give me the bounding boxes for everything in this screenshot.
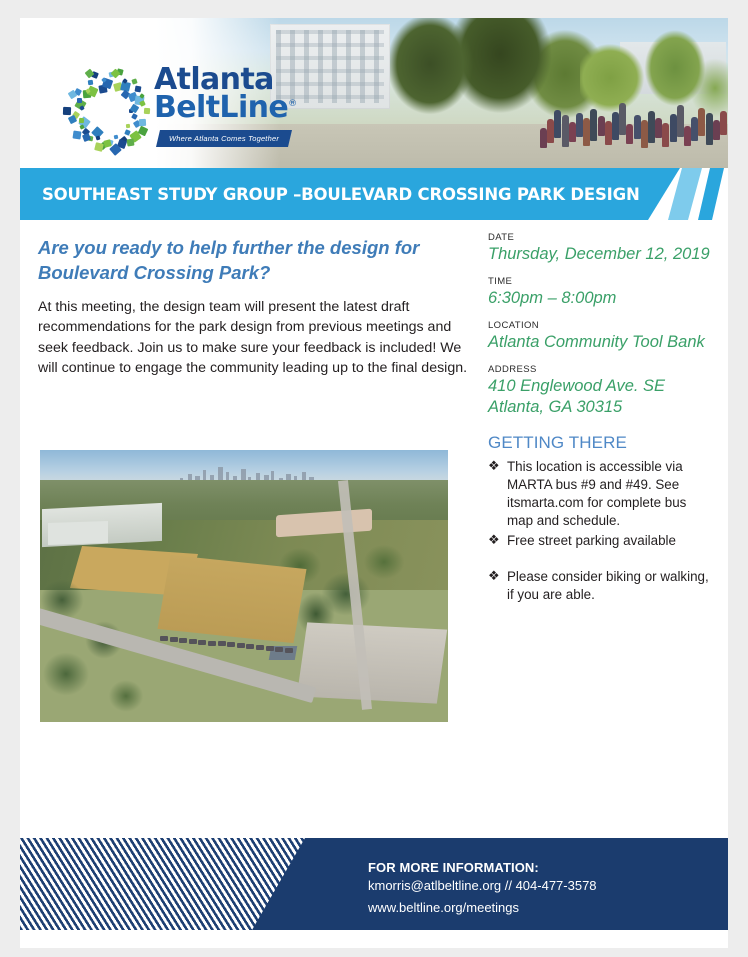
banner-title: SOUTHEAST STUDY GROUP –BOULEVARD CROSSIN…: [42, 168, 640, 220]
footer: FOR MORE INFORMATION: kmorris@atlbeltlin…: [20, 838, 728, 930]
logo-trademark: ®: [288, 99, 296, 109]
detail-label-address: ADDRESS: [488, 364, 710, 375]
diamond-bullet-icon: ❖: [488, 567, 500, 585]
aerial-site-photo: [40, 450, 448, 722]
headline: Are you ready to help further the design…: [38, 236, 468, 285]
detail-value-location: Atlanta Community Tool Bank: [488, 332, 710, 352]
footer-website[interactable]: www.beltline.org/meetings: [368, 900, 708, 915]
footer-contact-block: FOR MORE INFORMATION: kmorris@atlbeltlin…: [368, 860, 708, 915]
header-photo-crowd: [540, 96, 728, 148]
content-area: Are you ready to help further the design…: [20, 220, 728, 832]
logo-word-beltline: BeltLine®: [154, 94, 297, 122]
atlanta-beltline-logo: Atlanta BeltLine® Where Atlanta Comes To…: [68, 64, 293, 159]
footer-contact[interactable]: kmorris@atlbeltline.org // 404-477-3578: [368, 878, 708, 893]
left-column: Are you ready to help further the design…: [38, 236, 468, 378]
getting-there-item: ❖ Free street parking available: [488, 532, 710, 550]
aerial-gravel-lot: [297, 622, 447, 703]
detail-value-address: 410 Englewood Ave. SE Atlanta, GA 30315: [488, 376, 710, 416]
getting-there-item: ❖ This location is accessible via MARTA …: [488, 458, 710, 531]
detail-label-time: TIME: [488, 276, 710, 287]
getting-there-item: ❖ Please consider biking or walking, if …: [488, 568, 710, 604]
detail-label-date: DATE: [488, 232, 710, 243]
getting-there-section: GETTING THERE ❖ This location is accessi…: [488, 433, 710, 605]
getting-there-item-text: This location is accessible via MARTA bu…: [507, 459, 686, 529]
flyer-page: Atlanta BeltLine® Where Atlanta Comes To…: [20, 18, 728, 948]
header-photo-band: Atlanta BeltLine® Where Atlanta Comes To…: [20, 18, 728, 168]
logo-tagline: Where Atlanta Comes Together: [156, 130, 292, 147]
getting-there-item-text: Free street parking available: [507, 533, 676, 548]
getting-there-list: ❖ This location is accessible via MARTA …: [488, 458, 710, 605]
footer-heading: FOR MORE INFORMATION:: [368, 860, 708, 875]
detail-label-location: LOCATION: [488, 320, 710, 331]
logo-tagline-ribbon: Where Atlanta Comes Together: [156, 130, 292, 147]
logo-wordmark: Atlanta BeltLine®: [154, 66, 297, 121]
diamond-bullet-icon: ❖: [488, 457, 500, 475]
detail-value-date: Thursday, December 12, 2019: [488, 244, 710, 264]
beltline-ring-icon: [68, 70, 150, 152]
right-column: DATE Thursday, December 12, 2019 TIME 6:…: [488, 232, 710, 605]
aerial-field-2: [157, 555, 306, 643]
title-banner-accent-stripe-2: [698, 168, 724, 220]
getting-there-item-text: Please consider biking or walking, if yo…: [507, 569, 709, 602]
getting-there-title: GETTING THERE: [488, 433, 710, 453]
body-copy: At this meeting, the design team will pr…: [38, 297, 468, 378]
detail-value-time: 6:30pm – 8:00pm: [488, 288, 710, 308]
aerial-industrial-buildings-2: [48, 521, 108, 545]
diamond-bullet-icon: ❖: [488, 531, 500, 549]
aerial-parked-cars: [160, 636, 300, 656]
title-banner: SOUTHEAST STUDY GROUP –BOULEVARD CROSSIN…: [20, 168, 728, 220]
